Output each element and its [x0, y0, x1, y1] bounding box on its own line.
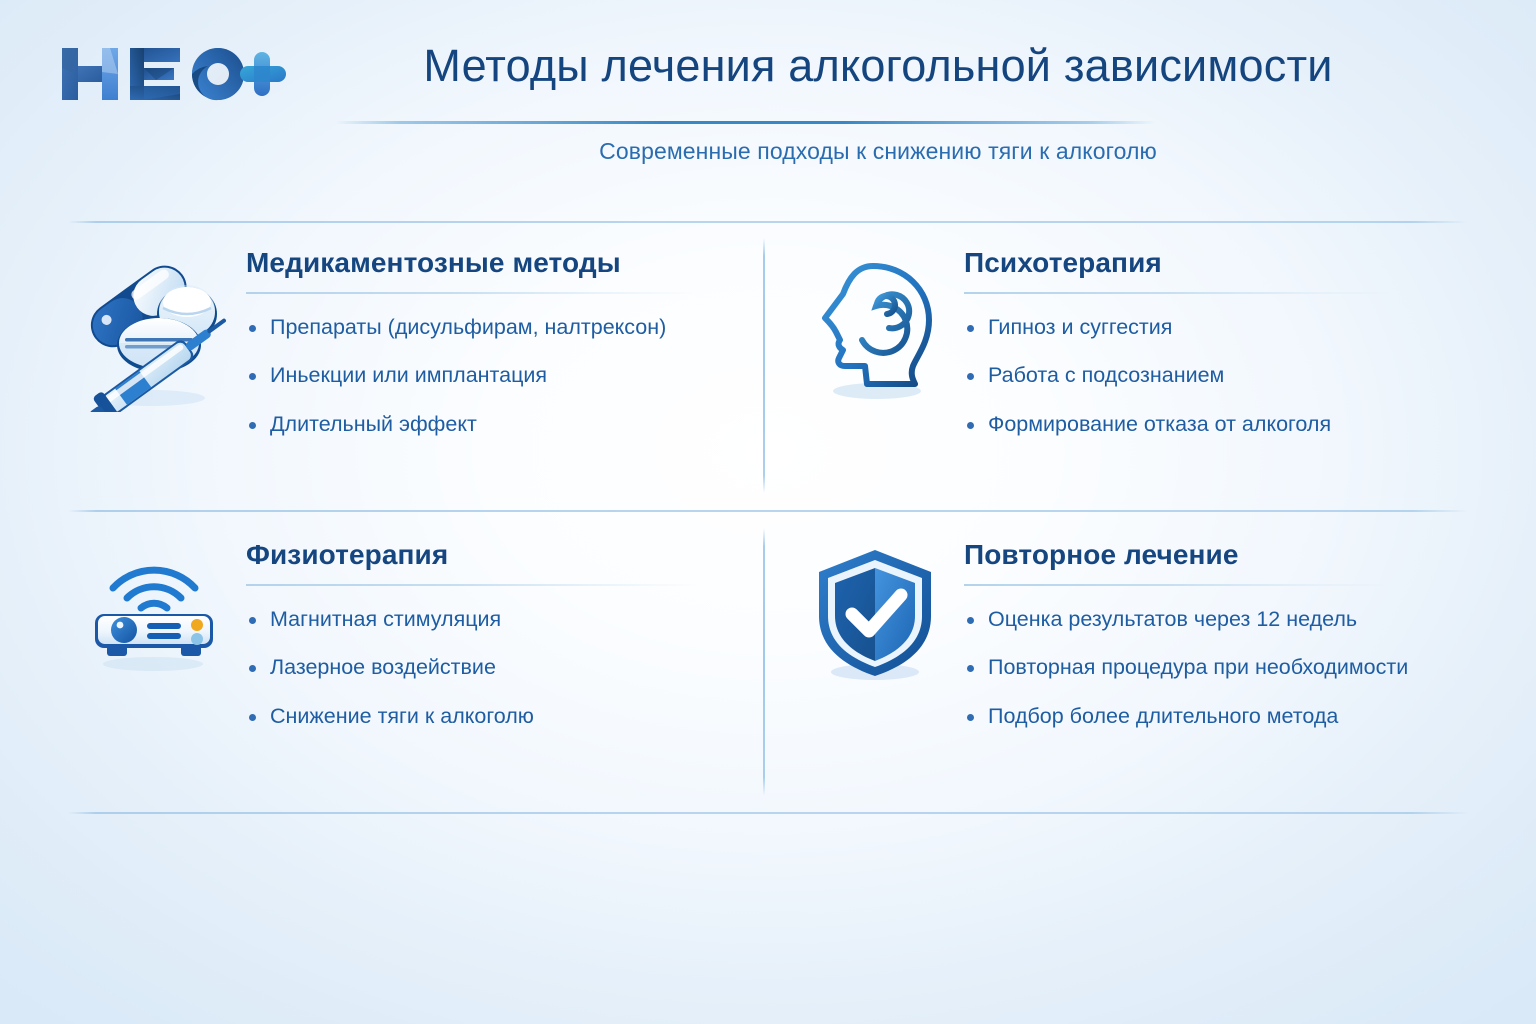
- card-medication-heading-rule: [246, 292, 698, 294]
- card-repeat-treatment-body: Повторное лечение Оценка результатов чер…: [950, 540, 1460, 730]
- list-item: Снижение тяги к алкоголю: [246, 703, 744, 731]
- page-title: Методы лечения алкогольной зависимости: [310, 42, 1446, 89]
- list-item: Лазерное воздействие: [246, 654, 744, 682]
- card-psychotherapy-heading: Психотерапия: [964, 248, 1460, 279]
- card-psychotherapy-heading-rule: [964, 292, 1394, 294]
- infographic-page: Методы лечения алкогольной зависимости С…: [0, 0, 1536, 1024]
- list-item: Гипноз и суггестия: [964, 314, 1460, 342]
- shield-check-icon: [805, 544, 945, 689]
- card-medication-bullets: Препараты (дисульфирам, налтрексон) Инье…: [246, 314, 744, 439]
- list-item: Иньекции или имплантация: [246, 362, 744, 390]
- card-psychotherapy-body: Психотерапия Гипноз и суггестия Работа с…: [950, 248, 1460, 438]
- card-repeat-treatment-icon-wrap: [800, 540, 950, 689]
- divider-vertical-row2: [763, 528, 765, 796]
- card-medication-icon-wrap: [72, 248, 232, 412]
- pills-syringe-icon: [75, 252, 230, 412]
- signal-device-icon: [77, 544, 227, 674]
- card-psychotherapy: Психотерапия Гипноз и суггестия Работа с…: [800, 248, 1460, 438]
- list-item: Препараты (дисульфирам, налтрексон): [246, 314, 744, 342]
- card-repeat-treatment: Повторное лечение Оценка результатов чер…: [800, 540, 1460, 730]
- card-physiotherapy-heading-rule: [246, 584, 698, 586]
- list-item: Повторная процедура при необходимости: [964, 654, 1460, 682]
- list-item: Формирование отказа от алкоголя: [964, 411, 1460, 439]
- card-physiotherapy-icon-wrap: [72, 540, 232, 674]
- head-spiral-icon: [805, 252, 945, 412]
- list-item: Магнитная стимуляция: [246, 606, 744, 634]
- card-medication: Медикаментозные методы Препараты (дисуль…: [72, 248, 744, 438]
- divider-top: [68, 221, 1468, 223]
- card-psychotherapy-icon-wrap: [800, 248, 950, 412]
- card-physiotherapy-bullets: Магнитная стимуляция Лазерное воздействи…: [246, 606, 744, 731]
- title-accent-rule: [335, 121, 1155, 124]
- list-item: Оценка результатов через 12 недель: [964, 606, 1460, 634]
- header: Методы лечения алкогольной зависимости С…: [0, 0, 1536, 190]
- divider-bottom: [68, 812, 1468, 814]
- card-repeat-treatment-bullets: Оценка результатов через 12 недель Повто…: [964, 606, 1460, 731]
- list-item: Длительный эффект: [246, 411, 744, 439]
- card-repeat-treatment-heading: Повторное лечение: [964, 540, 1460, 571]
- card-physiotherapy-body: Физиотерапия Магнитная стимуляция Лазерн…: [232, 540, 744, 730]
- card-repeat-treatment-heading-rule: [964, 584, 1394, 586]
- brand-logo: [58, 38, 290, 110]
- list-item: Подбор более длительного метода: [964, 703, 1460, 731]
- card-physiotherapy: Физиотерапия Магнитная стимуляция Лазерн…: [72, 540, 744, 730]
- card-physiotherapy-heading: Физиотерапия: [246, 540, 744, 571]
- card-psychotherapy-bullets: Гипноз и суггестия Работа с подсознанием…: [964, 314, 1460, 439]
- divider-vertical-row1: [763, 238, 765, 493]
- card-medication-heading: Медикаментозные методы: [246, 248, 744, 279]
- divider-middle: [68, 510, 1468, 512]
- card-medication-body: Медикаментозные методы Препараты (дисуль…: [232, 248, 744, 438]
- neo-plus-logo-icon: [58, 38, 290, 110]
- page-subtitle: Современные подходы к снижению тяги к ал…: [310, 138, 1446, 165]
- list-item: Работа с подсознанием: [964, 362, 1460, 390]
